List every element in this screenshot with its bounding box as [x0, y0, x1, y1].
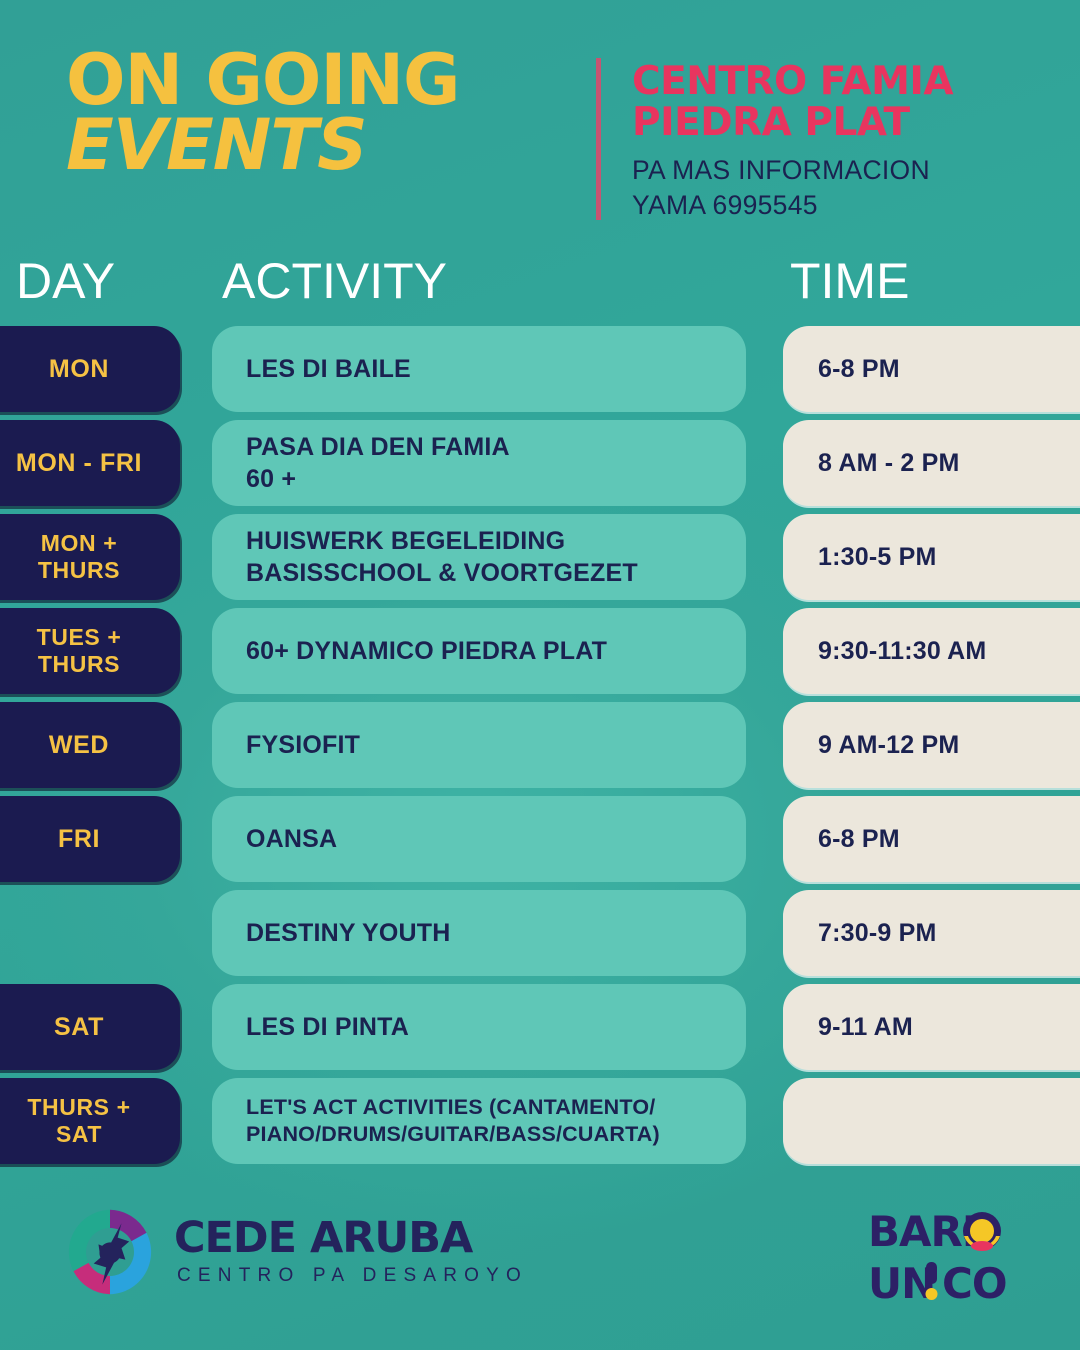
schedule-row: DESTINY YOUTH7:30-9 PM	[0, 890, 1080, 976]
activity-pill: LET'S ACT ACTIVITIES (CANTAMENTO/ PIANO/…	[212, 1078, 746, 1164]
poster-canvas: ON GOING EVENTS CENTRO FAMIA PIEDRA PLAT…	[0, 0, 1080, 1350]
cede-name: CEDE ARUBA	[174, 1217, 528, 1260]
activity-label: LES DI PINTA	[246, 1011, 409, 1043]
cede-swirl-icon	[62, 1204, 158, 1300]
day-pill: MON	[0, 326, 180, 412]
time-pill: 6-8 PM	[783, 796, 1080, 882]
cede-wordmark: CEDE ARUBA CENTRO PA DESAROYO	[174, 1217, 528, 1287]
day-label: WED	[49, 731, 109, 760]
day-pill: TUES + THURS	[0, 608, 180, 694]
activity-pill: HUISWERK BEGELEIDING BASISSCHOOL & VOORT…	[212, 514, 746, 600]
organization-block: CENTRO FAMIA PIEDRA PLAT PA MAS INFORMAC…	[632, 62, 1062, 222]
day-label: MON	[49, 355, 109, 384]
time-pill: 7:30-9 PM	[783, 890, 1080, 976]
day-label: TUES + THURS	[37, 624, 122, 677]
activity-pill: PASA DIA DEN FAMIA 60 +	[212, 420, 746, 506]
schedule-row: THURS + SATLET'S ACT ACTIVITIES (CANTAME…	[0, 1078, 1080, 1164]
time-label: 9:30-11:30 AM	[818, 637, 986, 666]
time-label: 8 AM - 2 PM	[818, 449, 960, 478]
schedule-row: SATLES DI PINTA9-11 AM	[0, 984, 1080, 1070]
day-label: FRI	[58, 825, 100, 854]
poster-header: ON GOING EVENTS CENTRO FAMIA PIEDRA PLAT…	[0, 0, 1080, 238]
day-label: MON - FRI	[16, 449, 142, 478]
day-pill: MON + THURS	[0, 514, 180, 600]
column-headers: DAY ACTIVITY TIME	[0, 248, 1080, 320]
org-name-line-1: CENTRO FAMIA	[632, 62, 1062, 103]
activity-label: HUISWERK BEGELEIDING BASISSCHOOL & VOORT…	[246, 525, 638, 589]
column-header-activity: ACTIVITY	[222, 256, 447, 306]
poster-title: ON GOING EVENTS	[66, 48, 566, 179]
contact-line-1: PA MAS INFORMACION	[632, 153, 1062, 187]
activity-label: PASA DIA DEN FAMIA 60 +	[246, 431, 510, 495]
schedule-row: FRIOANSA6-8 PM	[0, 796, 1080, 882]
day-pill: FRI	[0, 796, 180, 882]
cede-aruba-logo: CEDE ARUBA CENTRO PA DESAROYO	[62, 1204, 528, 1300]
time-pill: 6-8 PM	[783, 326, 1080, 412]
schedule-row: MON + THURSHUISWERK BEGELEIDING BASISSCH…	[0, 514, 1080, 600]
time-label: 1:30-5 PM	[818, 543, 937, 572]
day-pill: THURS + SAT	[0, 1078, 180, 1164]
activity-label: 60+ DYNAMICO PIEDRA PLAT	[246, 635, 607, 667]
time-label: 9 AM-12 PM	[818, 731, 959, 760]
schedule-row: MON - FRIPASA DIA DEN FAMIA 60 +8 AM - 2…	[0, 420, 1080, 506]
day-pill: WED	[0, 702, 180, 788]
time-label: 7:30-9 PM	[818, 919, 937, 948]
activity-label: LES DI BAILE	[246, 353, 411, 385]
day-label: SAT	[54, 1013, 104, 1042]
svg-text:CO: CO	[942, 1259, 1007, 1304]
schedule-table: MONLES DI BAILE6-8 PMMON - FRIPASA DIA D…	[0, 326, 1080, 1176]
time-pill: 1:30-5 PM	[783, 514, 1080, 600]
org-name-line-2: PIEDRA PLAT	[632, 103, 1062, 144]
time-label: 6-8 PM	[818, 355, 900, 384]
activity-pill: DESTINY YOUTH	[212, 890, 746, 976]
time-pill: 9:30-11:30 AM	[783, 608, 1080, 694]
time-pill: 9-11 AM	[783, 984, 1080, 1070]
day-label: THURS + SAT	[27, 1094, 130, 1147]
activity-pill: OANSA	[212, 796, 746, 882]
activity-label: LET'S ACT ACTIVITIES (CANTAMENTO/ PIANO/…	[246, 1094, 660, 1148]
cede-tagline: CENTRO PA DESAROYO	[177, 1265, 528, 1287]
title-line-1: ON GOING	[66, 48, 566, 112]
activity-pill: LES DI BAILE	[212, 326, 746, 412]
activity-pill: 60+ DYNAMICO PIEDRA PLAT	[212, 608, 746, 694]
activity-label: OANSA	[246, 823, 337, 855]
time-pill: 8 AM - 2 PM	[783, 420, 1080, 506]
schedule-row: WEDFYSIOFIT9 AM-12 PM	[0, 702, 1080, 788]
column-header-time: TIME	[790, 256, 909, 306]
column-header-day: DAY	[16, 256, 115, 306]
poster-footer: CEDE ARUBA CENTRO PA DESAROYO BARI UN CO	[0, 1186, 1080, 1350]
time-label: 9-11 AM	[818, 1013, 913, 1042]
day-pill: MON - FRI	[0, 420, 180, 506]
activity-pill: LES DI PINTA	[212, 984, 746, 1070]
bario-unico-wordmark-icon: BARI UN CO	[868, 1206, 1038, 1304]
activity-label: FYSIOFIT	[246, 729, 360, 761]
svg-text:UN: UN	[868, 1259, 935, 1304]
activity-pill: FYSIOFIT	[212, 702, 746, 788]
schedule-row: TUES + THURS60+ DYNAMICO PIEDRA PLAT9:30…	[0, 608, 1080, 694]
header-divider	[596, 58, 601, 220]
time-label: 6-8 PM	[818, 825, 900, 854]
title-line-2: EVENTS	[66, 112, 566, 179]
day-pill: SAT	[0, 984, 180, 1070]
time-pill: 9 AM-12 PM	[783, 702, 1080, 788]
time-pill	[783, 1078, 1080, 1164]
contact-line-2: YAMA 6995545	[632, 188, 1062, 222]
day-label: MON + THURS	[38, 530, 120, 583]
activity-label: DESTINY YOUTH	[246, 917, 451, 949]
bario-unico-logo: BARI UN CO	[868, 1206, 1038, 1304]
svg-text:BARI: BARI	[868, 1207, 977, 1256]
schedule-row: MONLES DI BAILE6-8 PM	[0, 326, 1080, 412]
